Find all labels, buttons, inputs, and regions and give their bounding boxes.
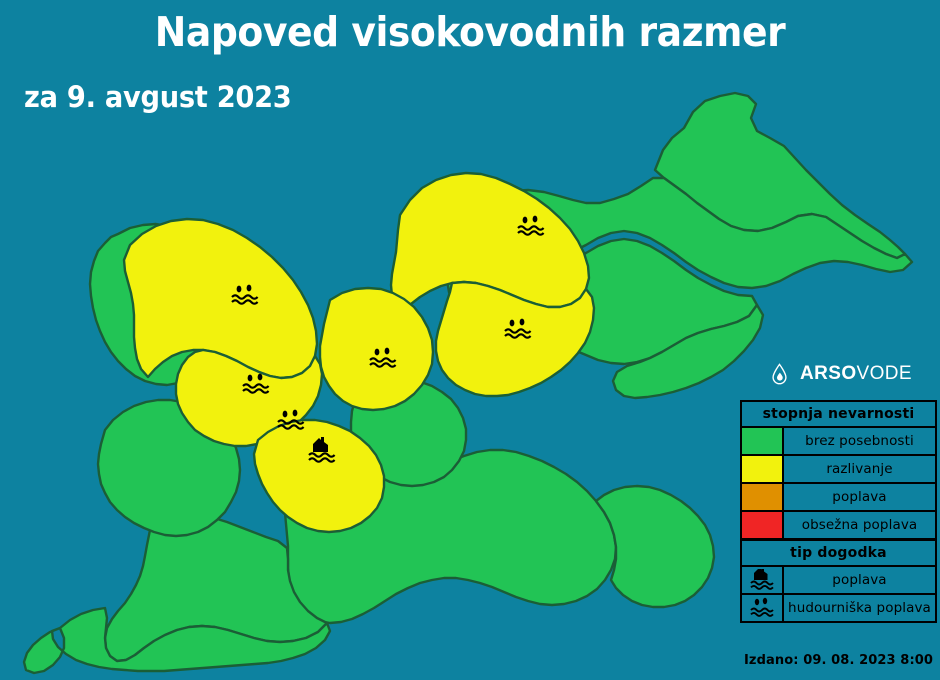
brand-name-vode: VODE [857, 363, 912, 384]
legend-row[interactable]: hudourniška poplava [742, 595, 935, 621]
legend-label: poplava [784, 567, 935, 593]
page-title: Napoved visokovodnih razmer [38, 8, 903, 56]
legend-row[interactable]: poplava [742, 484, 935, 512]
legend-row[interactable]: razlivanje [742, 456, 935, 484]
arso-vode-logo[interactable]: ARSOVODE [770, 363, 912, 385]
brand-name: ARSOVODE [800, 363, 912, 385]
swatch-obsezna-poplava [742, 512, 784, 538]
swatch-brez-posebnosti [742, 428, 784, 454]
swatch-poplava [742, 484, 784, 510]
legend-event-types: tip dogodka poplava hudournišk [740, 539, 937, 623]
legend-icon-cell [742, 595, 784, 621]
legend-label: razlivanje [784, 456, 935, 482]
water-drop-icon [770, 363, 789, 385]
legend-label: obsežna poplava [784, 512, 935, 538]
legend-label: brez posebnosti [784, 428, 935, 454]
legend-icon-cell [742, 567, 784, 593]
flash-flood-raindrops-icon [747, 597, 777, 619]
legend-type-title: tip dogodka [742, 541, 935, 567]
flood-house-icon [747, 569, 777, 591]
legend-row[interactable]: brez posebnosti [742, 428, 935, 456]
brand-name-arso: ARSO [800, 363, 857, 384]
swatch-razlivanje [742, 456, 784, 482]
legend-danger-title: stopnja nevarnosti [742, 402, 935, 428]
issued-timestamp: Izdano: 09. 08. 2023 8:00 [744, 653, 933, 668]
page-subtitle: za 9. avgust 2023 [24, 80, 291, 114]
legend-danger-levels: stopnja nevarnosti brez posebnosti razli… [740, 400, 937, 540]
legend-label: poplava [784, 484, 935, 510]
legend-row[interactable]: obsežna poplava [742, 512, 935, 538]
forecast-map-page: Napoved visokovodnih razmer za 9. avgust… [0, 0, 940, 680]
legend-label: hudourniška poplava [784, 595, 935, 621]
legend-row[interactable]: poplava [742, 567, 935, 595]
